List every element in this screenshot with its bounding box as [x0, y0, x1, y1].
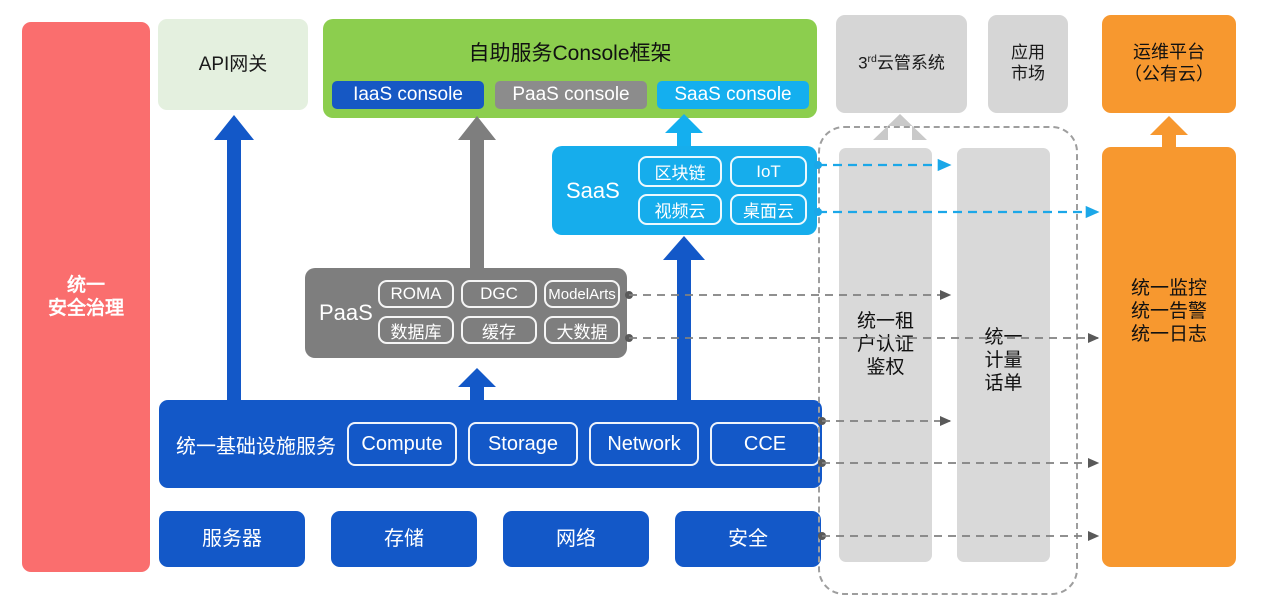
infra-service-compute[interactable]: Compute: [347, 422, 457, 466]
paas-service-cache[interactable]: 缓存: [461, 316, 537, 344]
hardware-box-storage[interactable]: 存储: [331, 511, 477, 567]
paas-service-roma[interactable]: ROMA: [378, 280, 454, 308]
unified-metering-column: 统一 计量 话单: [957, 148, 1050, 562]
saas-block: SaaS 区块链 IoT 视频云 桌面云: [552, 146, 817, 235]
hardware-label: 安全: [728, 527, 768, 551]
infra-service-label: Storage: [488, 433, 558, 456]
monitoring-line-3: 统一日志: [1102, 323, 1236, 346]
monitoring-line-2: 统一告警: [1102, 300, 1236, 323]
metering-line-3: 话单: [957, 372, 1050, 395]
infra-service-label: CCE: [744, 433, 786, 456]
paas-service-database[interactable]: 数据库: [378, 316, 454, 344]
paas-service-dgc[interactable]: DGC: [461, 280, 537, 308]
infra-service-network[interactable]: Network: [589, 422, 699, 466]
paas-service-label: ModelArts: [548, 286, 616, 303]
third-party-cloud-mgmt-box: 3rd云管系统: [836, 15, 967, 113]
arrow-infra-to-api-gateway: [214, 115, 254, 400]
unified-tenant-auth-column: 统一租 户认证 鉴权: [839, 148, 932, 562]
tenant-auth-line-3: 鉴权: [839, 356, 932, 379]
self-service-console-frame: 自助服务Console框架 IaaS console PaaS console …: [323, 19, 817, 118]
metering-line-2: 计量: [957, 349, 1050, 372]
saas-service-label: 区块链: [655, 159, 706, 184]
ops-platform-box: 运维平台 （公有云）: [1102, 15, 1236, 113]
security-line-2: 安全治理: [48, 297, 124, 320]
arrow-infra-to-saas: [663, 236, 705, 400]
paas-console-chip[interactable]: PaaS console: [495, 81, 647, 109]
saas-service-label: 桌面云: [743, 197, 794, 222]
arrow-saas-to-console: [665, 114, 703, 146]
hardware-box-network[interactable]: 网络: [503, 511, 649, 567]
arrow-monitoring-to-ops-platform: [1150, 116, 1188, 147]
paas-service-label: 数据库: [391, 318, 442, 343]
saas-label: SaaS: [566, 146, 620, 235]
saas-service-video-cloud[interactable]: 视频云: [638, 194, 722, 225]
iaas-console-label: IaaS console: [353, 84, 463, 106]
paas-service-modelarts[interactable]: ModelArts: [544, 280, 620, 308]
paas-label: PaaS: [319, 268, 373, 358]
ops-platform-line-2: （公有云）: [1124, 64, 1214, 86]
saas-service-label: 视频云: [655, 197, 706, 222]
saas-service-iot[interactable]: IoT: [730, 156, 807, 187]
hardware-box-security[interactable]: 安全: [675, 511, 821, 567]
api-gateway-box: API网关: [158, 19, 308, 110]
unified-security-governance-panel: 统一 安全治理: [22, 22, 150, 572]
hardware-label: 存储: [384, 527, 424, 551]
paas-service-label: ROMA: [391, 284, 442, 304]
paas-service-bigdata[interactable]: 大数据: [544, 316, 620, 344]
paas-block: PaaS ROMA DGC ModelArts 数据库 缓存 大数据: [305, 268, 627, 358]
paas-service-label: 缓存: [482, 318, 516, 343]
infra-service-label: Compute: [361, 433, 442, 456]
tenant-auth-line-1: 统一租: [839, 310, 932, 333]
arrow-infra-to-paas: [458, 368, 496, 400]
third-party-label: 3rd云管系统: [858, 53, 945, 74]
security-line-1: 统一: [48, 274, 124, 297]
hardware-label: 服务器: [202, 527, 262, 551]
saas-console-label: SaaS console: [674, 84, 791, 106]
architecture-diagram: 统一 安全治理 API网关 自助服务Console框架 IaaS console…: [0, 0, 1265, 605]
app-market-line-1: 应用: [1011, 43, 1045, 64]
api-gateway-label: API网关: [199, 53, 268, 76]
unified-monitoring-panel: 统一监控 统一告警 统一日志: [1102, 147, 1236, 567]
tenant-auth-line-2: 户认证: [839, 333, 932, 356]
ops-platform-line-1: 运维平台: [1124, 42, 1214, 64]
paas-service-label: DGC: [480, 284, 518, 304]
infrastructure-label: 统一基础设施服务: [176, 400, 336, 488]
saas-service-blockchain[interactable]: 区块链: [638, 156, 722, 187]
saas-service-label: IoT: [756, 162, 781, 182]
console-title: 自助服务Console框架: [323, 37, 817, 67]
saas-service-desktop-cloud[interactable]: 桌面云: [730, 194, 807, 225]
infra-service-storage[interactable]: Storage: [468, 422, 578, 466]
saas-console-chip[interactable]: SaaS console: [657, 81, 809, 109]
app-market-line-2: 市场: [1011, 64, 1045, 85]
metering-line-1: 统一: [957, 326, 1050, 349]
unified-infrastructure-bar: 统一基础设施服务 Compute Storage Network CCE: [159, 400, 822, 488]
paas-console-label: PaaS console: [512, 84, 629, 106]
hardware-label: 网络: [556, 527, 596, 551]
infra-service-cce[interactable]: CCE: [710, 422, 820, 466]
app-market-box: 应用 市场: [988, 15, 1068, 113]
paas-service-label: 大数据: [557, 318, 608, 343]
hardware-box-server[interactable]: 服务器: [159, 511, 305, 567]
iaas-console-chip[interactable]: IaaS console: [332, 81, 484, 109]
arrow-paas-to-console: [458, 116, 496, 268]
monitoring-line-1: 统一监控: [1102, 277, 1236, 300]
infra-service-label: Network: [607, 433, 680, 456]
